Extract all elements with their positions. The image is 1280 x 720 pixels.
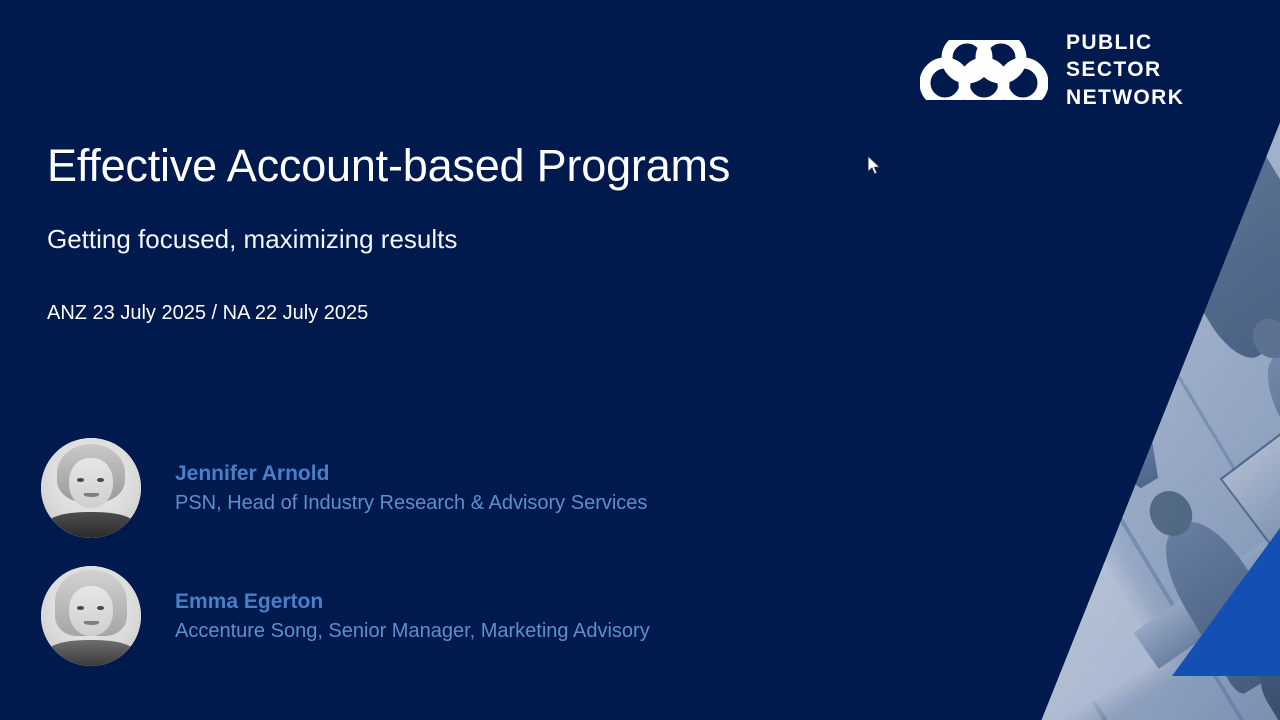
speaker-item: Emma Egerton Accenture Song, Senior Mana… (41, 561, 650, 671)
avatar-jennifer-arnold (41, 438, 141, 538)
presentation-slide: PUBLIC SECTOR NETWORK Effective Account-… (0, 0, 1280, 720)
sticky-note (1026, 111, 1077, 162)
slide-title: Effective Account-based Programs (47, 140, 730, 192)
logo-line-public: PUBLIC (1066, 29, 1184, 56)
speaker-item: Jennifer Arnold PSN, Head of Industry Re… (41, 433, 650, 543)
speaker-details: Jennifer Arnold PSN, Head of Industry Re… (175, 462, 647, 515)
sticky-note (1071, 151, 1122, 202)
mouse-cursor (868, 156, 882, 176)
speaker-name: Emma Egerton (175, 590, 650, 614)
logo-line-sector: SECTOR (1066, 56, 1184, 83)
speaker-details: Emma Egerton Accenture Song, Senior Mana… (175, 590, 650, 643)
pendant-lamp-cord (1009, 259, 1110, 426)
speaker-role: PSN, Head of Industry Research & Advisor… (175, 492, 647, 515)
logo-line-network: NETWORK (1066, 84, 1184, 111)
speaker-name: Jennifer Arnold (175, 462, 647, 486)
sticky-note (1122, 201, 1173, 252)
speaker-role: Accenture Song, Senior Manager, Marketin… (175, 620, 650, 643)
slide-subtitle: Getting focused, maximizing results (47, 224, 457, 255)
four-rings-logo-icon (920, 28, 1048, 112)
sticky-note (1181, 116, 1232, 167)
logo-wordmark: PUBLIC SECTOR NETWORK (1066, 29, 1184, 111)
speaker-list: Jennifer Arnold PSN, Head of Industry Re… (41, 433, 650, 689)
slide-dateline: ANZ 23 July 2025 / NA 22 July 2025 (47, 302, 368, 325)
sticky-note (1127, 130, 1178, 181)
avatar-emma-egerton (41, 566, 141, 666)
sticky-note (1184, 182, 1235, 233)
public-sector-network-logo: PUBLIC SECTOR NETWORK (920, 28, 1184, 112)
